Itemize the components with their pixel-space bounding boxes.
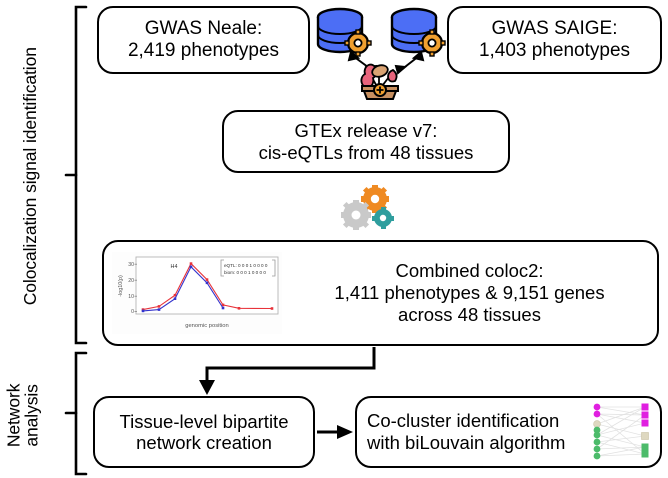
svg-text:0: 0 (131, 309, 134, 315)
database-plant-icon-group (311, 4, 447, 100)
box-gwas-saige-label: GWAS SAIGE: 1,403 phenotypes (479, 18, 630, 62)
box-cocluster-label: Co-cluster identification with biLouvain… (367, 410, 588, 454)
bracket-network (66, 353, 86, 474)
plant-pot-icon (361, 63, 398, 99)
bipartite-network-icon (588, 401, 654, 463)
coloc-mini-chart: 30 20 10 0 -log10(p) genomic position H4… (112, 252, 282, 334)
arrow-coloc2-to-bipartite (207, 347, 374, 382)
network-left-nodes (594, 404, 601, 460)
chart-ylabel: -log10(p) (118, 275, 124, 297)
box-gwas-neale-label: GWAS Neale: 2,419 phenotypes (128, 18, 279, 62)
svg-text:10: 10 (128, 294, 134, 300)
diagram-canvas: Colocalization signal identification Net… (0, 0, 668, 478)
gear-icon-gray (341, 200, 371, 230)
bidirectional-arrow-right (396, 52, 423, 73)
chart-xlabel: genomic position (185, 323, 229, 329)
box-bipartite-network: Tissue-level bipartite network creation (93, 396, 315, 468)
section-label-colocalization: Colocalization signal identification (21, 6, 39, 346)
svg-text:30: 30 (128, 262, 134, 268)
box-gwas-neale: GWAS Neale: 2,419 phenotypes (97, 6, 310, 74)
network-right-nodes (642, 404, 649, 458)
box-gwas-saige: GWAS SAIGE: 1,403 phenotypes (447, 6, 662, 74)
network-edges (597, 407, 645, 456)
box-combined-coloc2: 30 20 10 0 -log10(p) genomic position H4… (102, 240, 659, 346)
gears-icon (338, 185, 400, 231)
box-bipartite-network-label: Tissue-level bipartite network creation (120, 411, 289, 454)
section-label-network: Network analysis (5, 365, 42, 465)
chart-legend-eqtl: eQTL: 0 0 0 1 0 0 0 0 (224, 263, 268, 268)
box-gtex-label: GTEx release v7: cis-eQTLs from 48 tissu… (259, 120, 474, 163)
svg-text:20: 20 (128, 278, 134, 284)
bracket-colocalization (66, 7, 86, 343)
box-gtex: GTEx release v7: cis-eQTLs from 48 tissu… (222, 110, 510, 173)
box-cocluster: Co-cluster identification with biLouvain… (355, 396, 662, 468)
arrow-head-down (199, 380, 215, 395)
chart-legend-biom: biom: 0 0 0 1 0 0 0 0 (224, 270, 266, 275)
chart-title: H4 (171, 264, 178, 270)
arrow-head-right (337, 425, 353, 439)
box-combined-coloc2-label: Combined coloc2: 1,411 phenotypes & 9,15… (282, 260, 651, 327)
